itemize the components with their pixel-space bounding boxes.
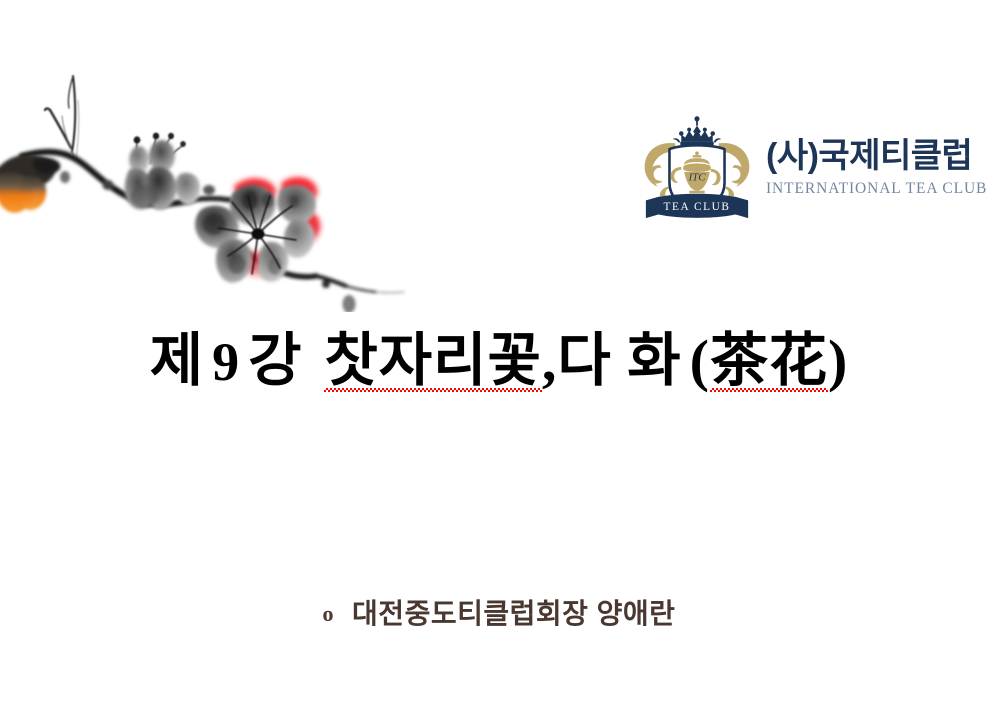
title-paren-open: ( bbox=[690, 328, 710, 393]
slide-subtitle-row: o대전중도티클럽회장 양애란 bbox=[0, 592, 998, 632]
title-lecture-unit: 강 bbox=[248, 328, 302, 393]
crest-ribbon-banner: TEA CLUB bbox=[646, 194, 748, 218]
crest-crown-icon bbox=[673, 116, 720, 145]
logo-korean-name: (사)국제티클럽 bbox=[766, 138, 987, 174]
branch-upper-twigs bbox=[45, 76, 79, 160]
title-paren-close: ) bbox=[828, 328, 848, 393]
title-topic-korean: 찻자리꽃 bbox=[324, 332, 541, 390]
bullet-icon: o bbox=[323, 601, 335, 626]
crest-monogram: ITC bbox=[688, 172, 707, 184]
tea-club-crest-icon: ITC TEA CLUB bbox=[638, 106, 756, 224]
title-lecture-number: 9 bbox=[212, 332, 240, 392]
slide-title-row: 제9강찻자리꽃,다 화(茶花) bbox=[0, 332, 998, 390]
title-topic-korean-2: 다 화 bbox=[557, 328, 681, 393]
sumi-e-plum-blossom-branch-artwork bbox=[0, 52, 444, 312]
logo-text-block: (사)국제티클럽 INTERNATIONAL TEA CLUB bbox=[766, 132, 987, 197]
title-topic-hanja: 茶花 bbox=[710, 332, 828, 390]
subtitle-text: 대전중도티클럽회장 양애란 bbox=[352, 598, 675, 629]
crest-banner-text: TEA CLUB bbox=[664, 201, 731, 213]
slide-subtitle: o대전중도티클럽회장 양애란 bbox=[323, 592, 676, 632]
title-comma: , bbox=[542, 328, 558, 393]
logo-english-name: INTERNATIONAL TEA CLUB bbox=[766, 180, 987, 198]
international-tea-club-logo: ITC TEA CLUB (사)국제티클럽 INTERNATIONAL TEA … bbox=[638, 104, 968, 226]
petal-cluster-orange-left bbox=[0, 155, 60, 213]
page-title: 제9강찻자리꽃,다 화(茶花) bbox=[150, 332, 849, 390]
presentation-slide: ITC TEA CLUB (사)국제티클럽 INTERNATIONAL TEA … bbox=[0, 0, 998, 718]
title-lecture-label: 제 bbox=[150, 328, 204, 393]
flower-bud-center bbox=[125, 133, 200, 211]
